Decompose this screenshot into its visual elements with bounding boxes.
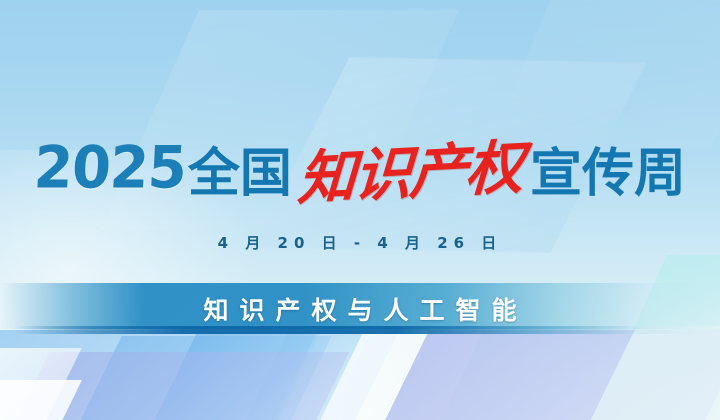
background-diagonal-sheet-upper-right bbox=[490, 0, 720, 150]
ip-week-banner: 2025 全国 知识产权 宣传周 4 月 20 日 - 4 月 26 日 知识产… bbox=[0, 0, 720, 420]
banner-title: 2025 全国 知识产权 宣传周 bbox=[0, 132, 720, 204]
background-sheet-bottom-mid-blue bbox=[221, 330, 399, 420]
background-sheet-bottom-right-violet bbox=[361, 330, 720, 420]
banner-subtitle: 知识产权与人工智能 bbox=[0, 291, 720, 327]
title-segment-xuanchuanzhou: 宣传周 bbox=[530, 131, 686, 206]
subtitle-band-bottom-stripe bbox=[0, 326, 720, 334]
background-sheet-bottom-left-4 bbox=[133, 333, 316, 420]
background-sheet-bottom-left-3 bbox=[58, 336, 331, 420]
background-sheet-bottom-left-2 bbox=[0, 352, 349, 420]
background-sheet-bottom-mid-white bbox=[296, 330, 484, 420]
background-sheet-bottom-left-white bbox=[0, 348, 82, 420]
title-segment-zhishichanquan: 知识产权 bbox=[296, 120, 524, 216]
event-date-range: 4 月 20 日 - 4 月 26 日 bbox=[0, 232, 720, 253]
title-year: 2025 bbox=[32, 134, 187, 202]
background-sheet-bottom-right-pale bbox=[563, 326, 720, 420]
title-segment-quanguo: 全国 bbox=[188, 131, 292, 206]
background-corner-white bbox=[0, 380, 82, 420]
background-sheet-bottom-left-1 bbox=[0, 330, 322, 420]
